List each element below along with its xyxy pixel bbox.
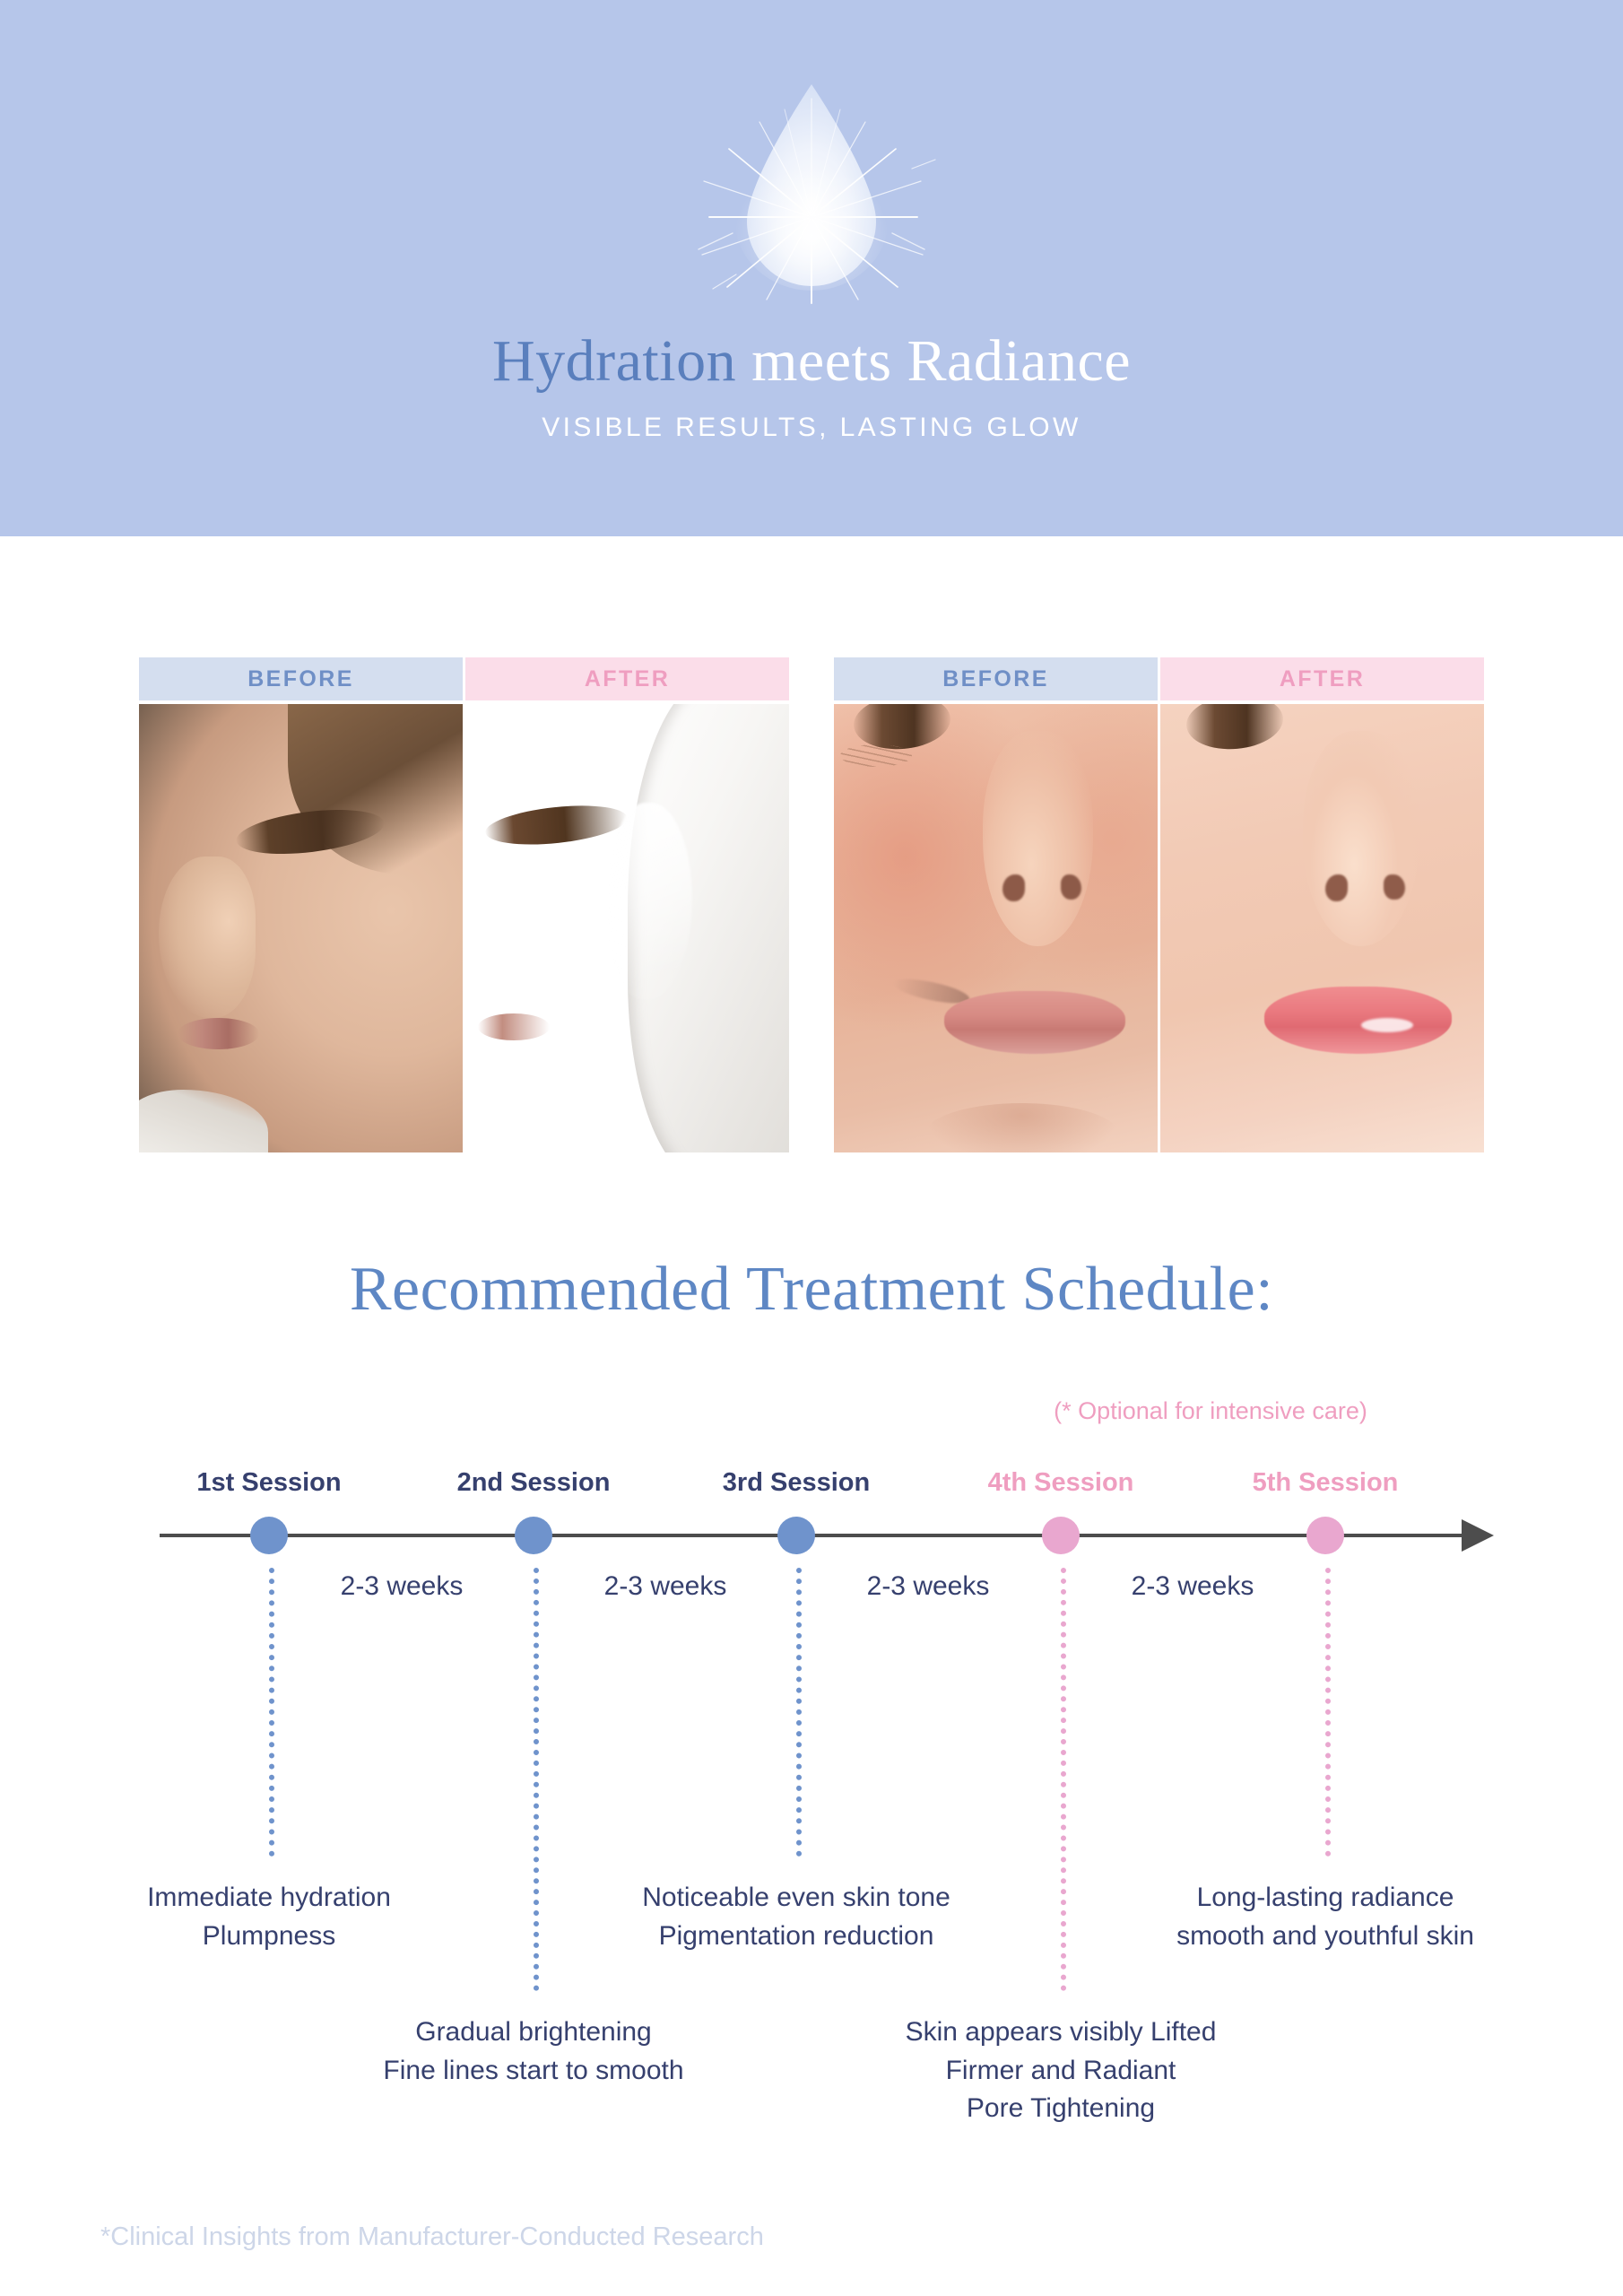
face-lip-shape <box>1264 987 1452 1054</box>
session-label-1: 1st Session <box>196 1468 341 1498</box>
face-nostril-right <box>1384 874 1404 900</box>
comparison-1-photos <box>139 704 789 1152</box>
face-lip-shape <box>178 1018 258 1049</box>
session-dot-4[interactable] <box>1042 1517 1080 1554</box>
face-nostril-right <box>1061 874 1081 900</box>
face-nostril-left <box>1325 874 1348 901</box>
session-label-2: 2nd Session <box>457 1468 611 1498</box>
fine-lines-shape <box>840 744 911 767</box>
session-dot-5[interactable] <box>1306 1517 1344 1554</box>
face-lip-shape <box>478 1013 549 1040</box>
session-dot-2[interactable] <box>515 1517 552 1554</box>
interval-label-2: 2-3 weeks <box>604 1571 727 1602</box>
interval-label-1: 2-3 weeks <box>341 1571 464 1602</box>
hero-header: Hydration meets Radiance VISIBLE RESULTS… <box>0 0 1623 536</box>
before-label-2: BEFORE <box>834 657 1158 700</box>
outcome-text-3: Noticeable even skin tonePigmentation re… <box>518 1879 1074 1955</box>
after-photo-1 <box>465 704 789 1152</box>
water-droplet-sparkle-icon <box>677 74 946 307</box>
interval-label-4: 2-3 weeks <box>1132 1571 1254 1602</box>
face-chin-shape <box>924 1103 1119 1152</box>
face-lip-shape <box>944 991 1125 1054</box>
comparison-pair-2: BEFORE AFTER <box>834 657 1484 1155</box>
after-label-2: AFTER <box>1160 657 1484 700</box>
page-subtitle: VISIBLE RESULTS, LASTING GLOW <box>0 413 1623 443</box>
timeline-arrow-icon <box>1462 1519 1494 1552</box>
session-label-4: 4th Session <box>988 1468 1134 1498</box>
face-nostril-left <box>1002 874 1025 901</box>
outcome-text-1: Immediate hydrationPlumpness <box>36 1879 502 1955</box>
session-dot-1[interactable] <box>250 1517 288 1554</box>
before-photo-1 <box>139 704 463 1152</box>
page-title-accent: Hydration <box>492 328 736 394</box>
before-photo-2 <box>834 704 1158 1152</box>
comparison-2-labels: BEFORE AFTER <box>834 657 1484 700</box>
comparison-pair-1: BEFORE AFTER <box>139 657 789 1155</box>
face-nose-shape <box>159 857 256 1018</box>
session-connector-1 <box>269 1568 274 1857</box>
schedule-heading: Recommended Treatment Schedule: <box>0 1254 1623 1326</box>
comparison-2-photos <box>834 704 1484 1152</box>
footnote: *Clinical Insights from Manufacturer-Con… <box>100 2222 764 2252</box>
face-brow-shape <box>483 800 629 850</box>
skin-gloss-highlight <box>608 803 692 1000</box>
session-dot-3[interactable] <box>777 1517 815 1554</box>
outcome-text-5: Long-lasting radiancesmooth and youthful… <box>1047 1879 1603 1955</box>
before-label-1: BEFORE <box>139 657 463 700</box>
optional-note: (* Optional for intensive care) <box>959 1397 1462 1425</box>
session-label-5: 5th Session <box>1253 1468 1399 1498</box>
session-label-3: 3rd Session <box>723 1468 870 1498</box>
after-photo-2 <box>1160 704 1484 1152</box>
face-eye-shape <box>1184 704 1285 753</box>
face-nose-shape <box>983 731 1093 946</box>
session-connector-5 <box>1325 1568 1331 1857</box>
outcome-text-4: Skin appears visibly LiftedFirmer and Ra… <box>783 2013 1339 2128</box>
interval-label-3: 2-3 weeks <box>867 1571 990 1602</box>
outcome-text-2: Gradual brighteningFine lines start to s… <box>256 2013 811 2090</box>
lip-shine-highlight <box>1361 1018 1413 1032</box>
face-nose-shape <box>1303 731 1419 946</box>
session-connector-3 <box>796 1568 802 1857</box>
page-title: Hydration meets Radiance <box>0 330 1623 392</box>
comparison-1-labels: BEFORE AFTER <box>139 657 789 700</box>
face-shoulder-shape <box>139 1090 268 1152</box>
after-label-1: AFTER <box>465 657 789 700</box>
page-title-main: meets Radiance <box>736 328 1131 394</box>
